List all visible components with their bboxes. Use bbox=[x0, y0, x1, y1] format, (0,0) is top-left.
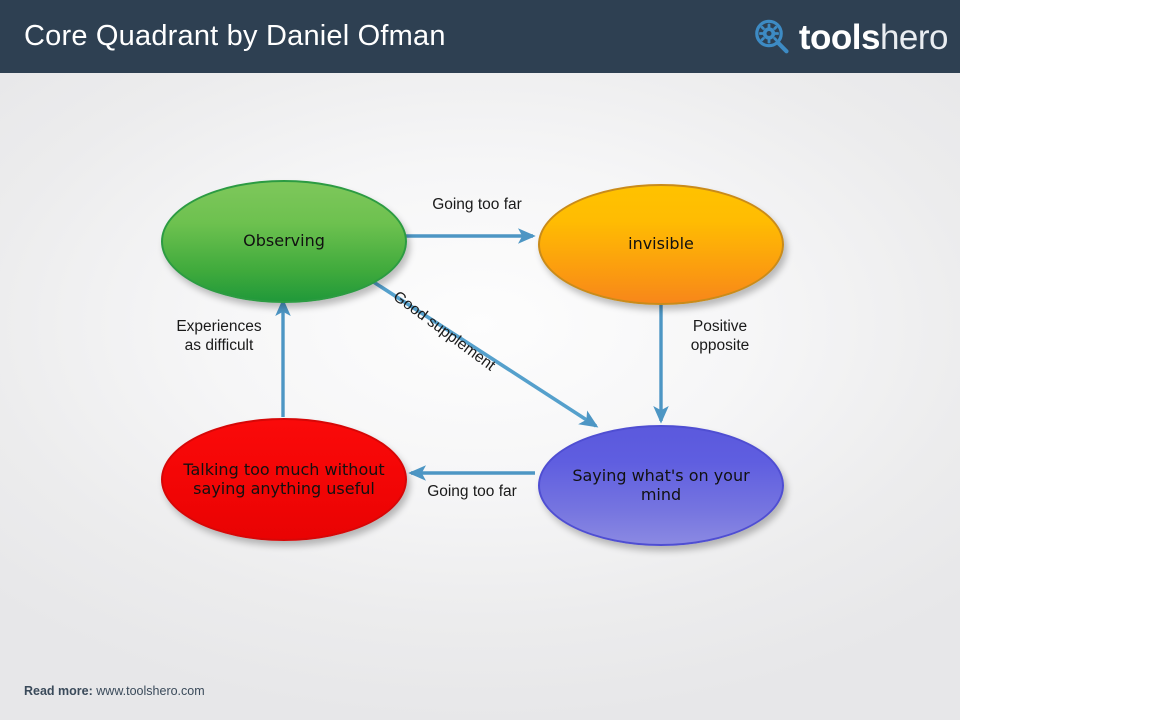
core-quadrant-diagram: Observing invisible Talking too much wit… bbox=[0, 73, 960, 673]
node-observing[interactable]: Observing bbox=[161, 180, 407, 303]
logo-bold-text: tools bbox=[799, 18, 880, 57]
read-more-label: Read more: bbox=[24, 684, 93, 698]
node-invisible[interactable]: invisible bbox=[538, 184, 784, 305]
magnifier-gear-icon bbox=[752, 17, 792, 57]
node-talking-label: Talking too much without saying anything… bbox=[163, 461, 405, 499]
node-saying-whats-on-your-mind[interactable]: Saying what's on your mind bbox=[538, 425, 784, 546]
node-talking-too-much[interactable]: Talking too much without saying anything… bbox=[161, 418, 407, 541]
page-title: Core Quadrant by Daniel Ofman bbox=[24, 20, 446, 53]
footer-read-more: Read more: www.toolshero.com bbox=[24, 684, 205, 698]
logo-light-text: hero bbox=[880, 18, 948, 57]
slide-canvas: Core Quadrant by Daniel Ofman bbox=[0, 0, 960, 720]
slide-header: Core Quadrant by Daniel Ofman bbox=[0, 0, 960, 73]
logo-wordmark: toolshero bbox=[799, 20, 948, 55]
edge-label-going-too-far-top: Going too far bbox=[410, 196, 544, 215]
toolshero-url[interactable]: www.toolshero.com bbox=[96, 684, 204, 698]
edge-label-going-too-far-bottom: Going too far bbox=[402, 483, 542, 502]
toolshero-logo[interactable]: toolshero bbox=[752, 14, 948, 60]
edge-label-positive-opposite: Positive opposite bbox=[667, 318, 773, 356]
edge-label-experiences-as-difficult: Experiences as difficult bbox=[147, 318, 291, 356]
node-observing-label: Observing bbox=[227, 232, 341, 251]
diagram-arrows bbox=[0, 73, 960, 673]
node-saying-label: Saying what's on your mind bbox=[540, 467, 782, 505]
node-invisible-label: invisible bbox=[612, 235, 710, 254]
